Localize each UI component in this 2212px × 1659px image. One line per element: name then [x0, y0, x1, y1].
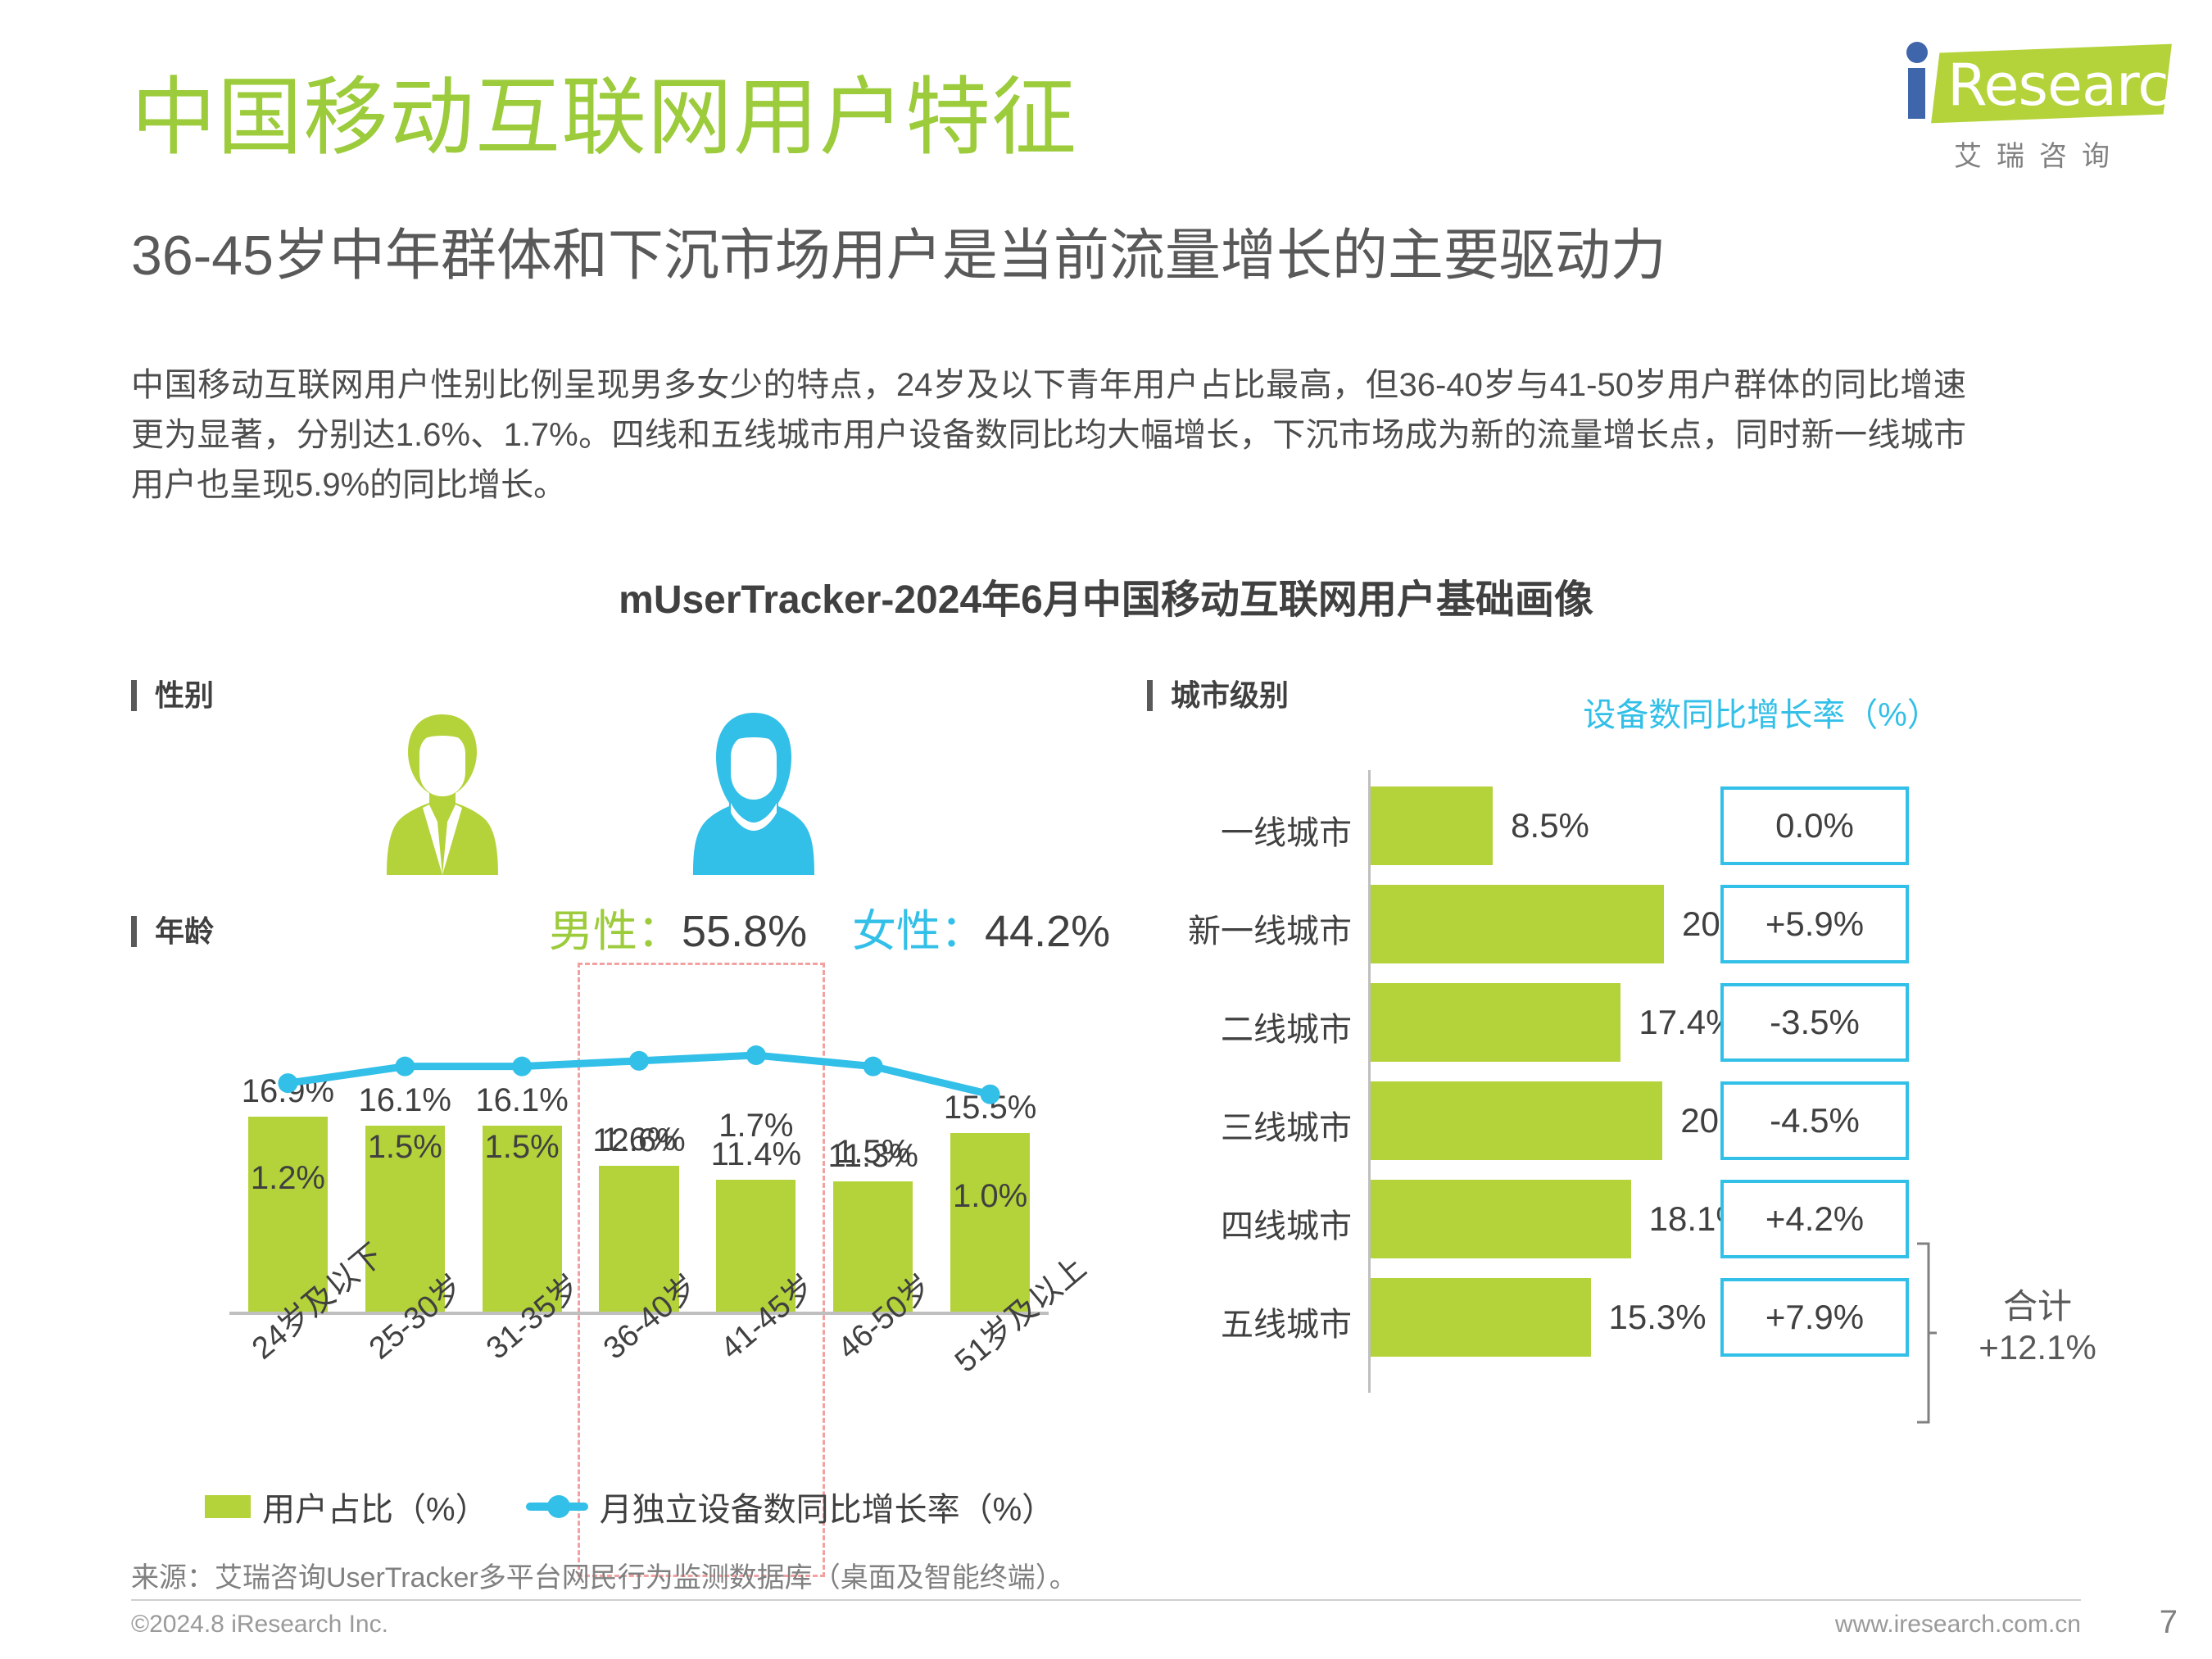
legend-bar-label: 用户占比（%） [262, 1483, 488, 1530]
age-line-marker [981, 1085, 1000, 1104]
city-tier-value: 8.5% [1511, 806, 1589, 845]
city-tier-value: 15.3% [1609, 1298, 1707, 1337]
city-tier-label: 五线城市 [1147, 1298, 1352, 1345]
legend-bar-swatch-icon [205, 1495, 251, 1518]
age-category-labels: 24岁及以下25-30岁31-35岁36-40岁41-45岁46-50岁51岁及… [229, 1317, 1057, 1464]
growth-rate-box: +4.2% [1720, 1180, 1909, 1258]
slide-page: Research 艾瑞咨询 中国移动互联网用户特征 36-45岁中年群体和下沉市… [0, 0, 2212, 1659]
city-tier-bar [1371, 1278, 1591, 1357]
source-note: 来源：艾瑞咨询UserTracker多平台网民行为监测数据库（桌面及智能终端）。 [131, 1555, 1077, 1595]
city-tier-label: 一线城市 [1147, 806, 1352, 854]
legend-line-swatch-icon [526, 1503, 588, 1511]
legend-item-line: 月独立设备数同比增长率（%） [526, 1483, 1055, 1530]
city-tier-label: 新一线城市 [1147, 904, 1352, 952]
age-line-marker [629, 1051, 649, 1071]
city-tier-row: 三线城市20.3% [1147, 1077, 2130, 1175]
section-heading-age: 年龄 [131, 916, 214, 947]
page-number: 7 [2160, 1604, 2178, 1641]
copyright-text: ©2024.8 iResearch Inc. [131, 1611, 388, 1639]
iresearch-logo: Research 艾瑞咨询 [1897, 37, 2167, 174]
city-tier-bar [1371, 1180, 1631, 1258]
age-line-value: 1.5% [339, 1129, 470, 1166]
age-line-marker [746, 1045, 766, 1065]
growth-rate-box: +5.9% [1720, 885, 1909, 963]
city-tier-bar [1371, 786, 1493, 865]
male-gender-stat: 男性：55.8% [549, 895, 807, 959]
age-line-value: 1.7% [691, 1108, 822, 1145]
total-value: +12.1% [1943, 1327, 2132, 1368]
female-gender-stat: 女性：44.2% [852, 895, 1110, 959]
city-tier-row: 二线城市17.4% [1147, 978, 2130, 1077]
age-line-value: 1.5% [456, 1129, 587, 1166]
logo-i-dot-icon [1906, 42, 1928, 63]
growth-rate-header: 设备数同比增长率（%） [1532, 688, 1991, 736]
gender-figure-group: 男性：55.8% 女性：44.2% [311, 705, 934, 901]
city-tier-bar [1371, 983, 1620, 1062]
section-heading-city: 城市级别 [1147, 680, 1289, 711]
body-paragraph: 中国移动互联网用户性别比例呈现男多女少的特点，24岁及以下青年用户占比最高，但3… [131, 360, 1966, 510]
total-label: 合计 [1943, 1286, 2132, 1327]
city-tier-bar [1371, 885, 1664, 963]
city-tier-label: 四线城市 [1147, 1199, 1352, 1247]
growth-rate-box: +7.9% [1720, 1278, 1909, 1357]
city-tier-label: 二线城市 [1147, 1003, 1352, 1050]
section-heading-gender: 性别 [131, 680, 214, 711]
website-url[interactable]: www.iresearch.com.cn [1835, 1611, 2081, 1639]
age-line-marker [512, 1057, 532, 1077]
male-label: 男性： [549, 907, 682, 956]
city-tier-bar [1371, 1081, 1662, 1160]
growth-rate-box: 0.0% [1720, 786, 1909, 865]
chart-title: mUserTracker-2024年6月中国移动互联网用户基础画像 [0, 567, 2212, 624]
growth-rate-box: -3.5% [1720, 983, 1909, 1062]
legend-line-label: 月独立设备数同比增长率（%） [600, 1483, 1055, 1530]
age-line-marker [278, 1073, 297, 1093]
logo-mark: Research [1897, 37, 2167, 129]
female-value: 44.2% [985, 907, 1110, 956]
city-tier-row: 四线城市18.1% [1147, 1175, 2130, 1273]
page-subtitle: 36-45岁中年群体和下沉市场用户是当前流量增长的主要驱动力 [131, 228, 1666, 283]
age-line-marker [863, 1057, 883, 1077]
legend-item-bar: 用户占比（%） [205, 1483, 488, 1530]
male-person-icon [360, 705, 524, 905]
page-title: 中国移动互联网用户特征 [131, 75, 1077, 161]
age-chart-legend: 用户占比（%） 月独立设备数同比增长率（%） [205, 1483, 1054, 1530]
city-tier-row: 一线城市8.5% [1147, 782, 2130, 880]
female-person-icon [672, 705, 836, 905]
city-tier-row: 新一线城市20.4% [1147, 880, 2130, 978]
age-line-marker [395, 1057, 415, 1077]
footer-divider [131, 1599, 2081, 1601]
age-line-value: 1.0% [925, 1178, 1056, 1215]
age-line-value: 1.2% [222, 1160, 353, 1197]
male-value: 55.8% [682, 907, 807, 956]
age-distribution-chart: 16.9%16.1%16.1%12.6%11.4%11.3%15.5% 1.2%… [139, 963, 1057, 1315]
total-bracket-icon [1915, 1242, 1938, 1424]
age-line-value: 1.5% [808, 1134, 939, 1171]
logo-wordmark: Research [1947, 52, 2204, 119]
logo-chinese-name: 艾瑞咨询 [1897, 134, 2167, 174]
age-line-value: 1.6% [573, 1122, 705, 1158]
logo-i-stem-icon [1908, 68, 1925, 119]
growth-rate-box: -4.5% [1720, 1081, 1909, 1160]
city-tier-label: 三线城市 [1147, 1101, 1352, 1149]
total-growth-stat: 合计 +12.1% [1943, 1286, 2132, 1367]
female-label: 女性： [852, 907, 985, 956]
